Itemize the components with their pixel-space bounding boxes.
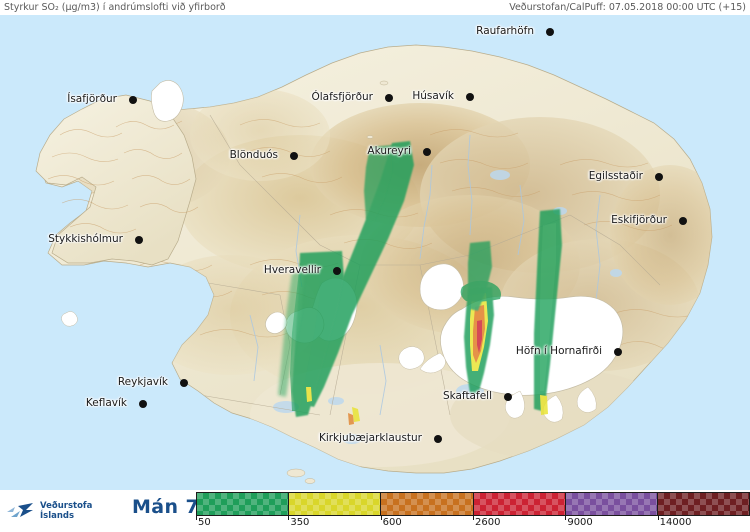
city-dot-icon bbox=[423, 148, 431, 156]
logo-line-1: Veðurstofa bbox=[40, 501, 92, 511]
city-label: Stykkishólmur bbox=[48, 234, 123, 245]
city-dot-icon bbox=[679, 217, 687, 225]
city-dot-icon bbox=[504, 393, 512, 401]
city-dot-icon bbox=[333, 267, 341, 275]
legend-tickmark bbox=[565, 516, 566, 520]
plume-yellow-fleck-1 bbox=[306, 387, 312, 402]
city-dot-icon bbox=[434, 435, 442, 443]
legend-tickmark bbox=[288, 516, 289, 520]
legend-tickmark bbox=[473, 516, 474, 520]
city-dot-icon bbox=[655, 173, 663, 181]
logo-line-2: Íslands bbox=[40, 511, 92, 521]
legend-band bbox=[473, 493, 565, 515]
iceland-map-svg bbox=[0, 15, 750, 490]
legend-tick-value: 350 bbox=[290, 517, 309, 529]
legend-tickmark bbox=[658, 516, 659, 520]
city-label: Blönduós bbox=[230, 150, 278, 161]
city-dot-icon bbox=[180, 379, 188, 387]
model-source-text: Veðurstofan/CalPuff: 07.05.2018 00:00 UT… bbox=[509, 0, 746, 15]
header-bar: Styrkur SO₂ (µg/m3) í andrúmslofti við y… bbox=[0, 0, 750, 15]
legend-tick-value: 9000 bbox=[567, 517, 592, 529]
city-dot-icon bbox=[466, 93, 474, 101]
city-dot-icon bbox=[129, 96, 137, 104]
city-label: Eskifjörður bbox=[611, 215, 667, 226]
legend-tick-labels: 503506002600900014000 bbox=[196, 516, 750, 532]
city-label: Egilsstaðir bbox=[589, 171, 643, 182]
city-label: Húsavík bbox=[412, 91, 454, 102]
vedurstofa-bird-icon bbox=[6, 500, 36, 522]
city-label: Kirkjubæjarklaustur bbox=[319, 433, 422, 444]
city-dot-icon bbox=[139, 400, 147, 408]
concentration-legend: 503506002600900014000 bbox=[196, 492, 750, 532]
city-label: Skaftafell bbox=[443, 391, 492, 402]
plume-yellow-tip-east bbox=[540, 395, 548, 415]
legend-tickmark bbox=[196, 516, 197, 520]
city-dot-icon bbox=[135, 236, 143, 244]
city-dot-icon bbox=[385, 94, 393, 102]
vedurstofa-wordmark: Veðurstofa Íslands bbox=[40, 501, 92, 521]
map-canvas[interactable]: ÍsafjörðurBlönduósÓlafsfjörðurHúsavíkRau… bbox=[0, 15, 750, 490]
city-dot-icon bbox=[614, 348, 622, 356]
city-label: Ísafjörður bbox=[67, 94, 117, 105]
legend-tick-value: 14000 bbox=[660, 517, 692, 529]
city-dot-icon bbox=[546, 28, 554, 36]
legend-tick-value: 600 bbox=[383, 517, 402, 529]
city-label: Raufarhöfn bbox=[476, 26, 534, 37]
footer-bar: Veðurstofa Íslands Mán 7 Maí 15:00 50350… bbox=[0, 490, 750, 532]
legend-band bbox=[380, 493, 472, 515]
city-label: Ólafsfjörður bbox=[311, 92, 373, 103]
city-label: Akureyri bbox=[367, 146, 411, 157]
legend-color-bar bbox=[196, 492, 750, 516]
city-label: Höfn í Hornafirði bbox=[516, 346, 602, 357]
city-label: Keflavík bbox=[86, 398, 127, 409]
legend-band bbox=[565, 493, 657, 515]
legend-tick-value: 2600 bbox=[475, 517, 500, 529]
legend-band bbox=[288, 493, 380, 515]
vedurstofa-logo[interactable]: Veðurstofa Íslands bbox=[6, 498, 128, 524]
legend-tickmark bbox=[381, 516, 382, 520]
legend-band bbox=[197, 493, 288, 515]
city-label: Hveravellir bbox=[264, 265, 321, 276]
city-label: Reykjavík bbox=[118, 377, 168, 388]
city-dot-icon bbox=[290, 152, 298, 160]
so2-forecast-map-app: Styrkur SO₂ (µg/m3) í andrúmslofti við y… bbox=[0, 0, 750, 532]
page-title: Styrkur SO₂ (µg/m3) í andrúmslofti við y… bbox=[4, 0, 226, 15]
legend-band bbox=[657, 493, 749, 515]
legend-tick-value: 50 bbox=[198, 517, 211, 529]
